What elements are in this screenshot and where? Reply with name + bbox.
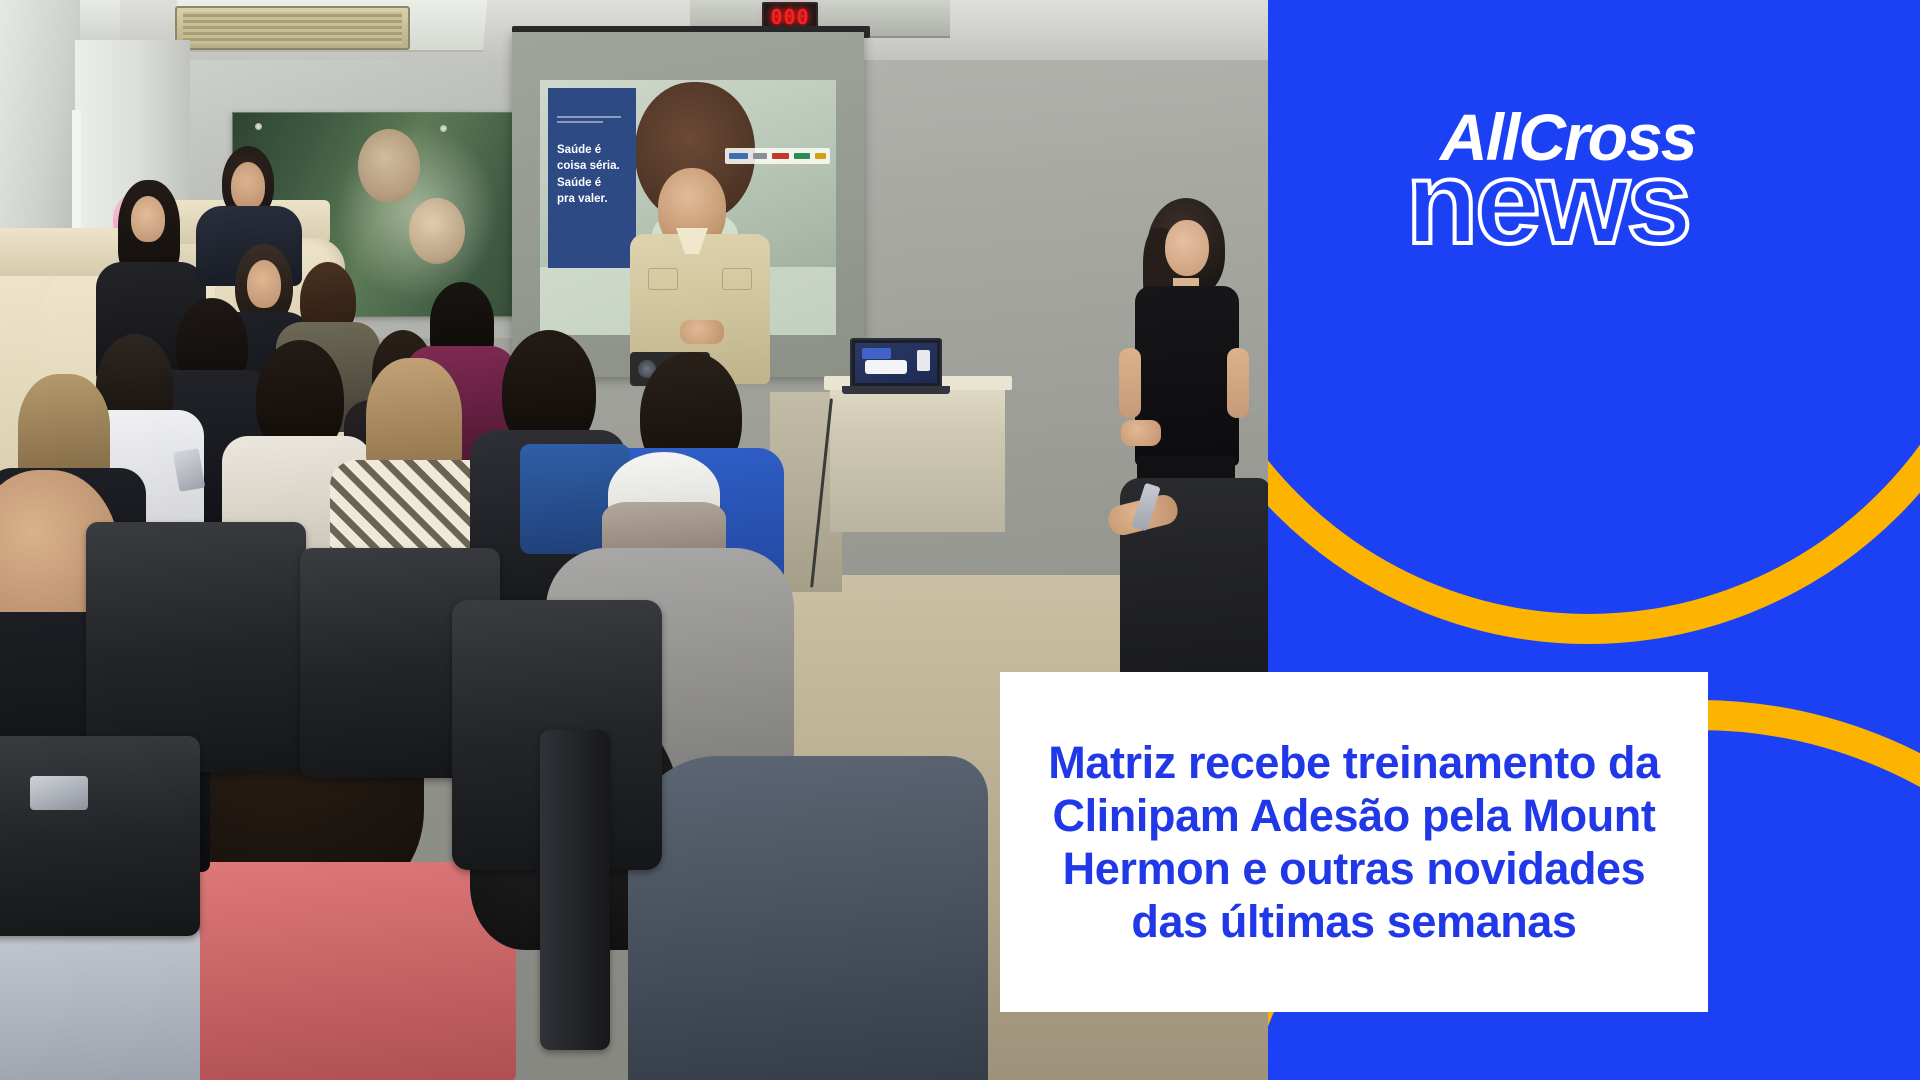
headline-card: Matriz recebe treinamento da Clinipam Ad… xyxy=(1000,672,1708,1012)
host-hands xyxy=(1121,420,1161,446)
laptop xyxy=(850,338,942,388)
page-title: Matriz recebe treinamento da Clinipam Ad… xyxy=(1048,736,1659,948)
av-table xyxy=(830,382,1005,532)
slide-text: Saúde é coisa séria. Saúde é pra valer. xyxy=(557,142,620,207)
news-card: 000 Fazer você sorrir. Está no nosso DNA… xyxy=(0,0,1920,1080)
allcross-news-logo[interactable]: AllCross news xyxy=(1406,108,1836,252)
attendee-body xyxy=(628,756,988,1080)
host-arm-left xyxy=(1119,348,1141,418)
slide-text-panel: Saúde é coisa séria. Saúde é pra valer. xyxy=(548,88,636,268)
tablet-icon xyxy=(30,776,88,810)
laptop-screen-panel xyxy=(862,348,892,359)
air-conditioner-icon xyxy=(175,6,410,50)
chair-leg xyxy=(540,730,610,1050)
speaker-pocket-left xyxy=(648,268,678,290)
attendee-face xyxy=(131,196,165,242)
slide-subtext-lines xyxy=(557,116,621,126)
laptop-screen-card xyxy=(865,360,908,374)
speaker-pocket-right xyxy=(722,268,752,290)
headline-line-4: das últimas semanas xyxy=(1048,895,1659,948)
speaker-hands xyxy=(680,320,724,344)
host-arm-right xyxy=(1227,348,1249,418)
speaker-person xyxy=(630,168,770,383)
slide-line-4: pra valer. xyxy=(557,191,620,207)
chair xyxy=(0,736,200,936)
slide-sponsor-logos xyxy=(725,148,830,164)
decorative-arc-top xyxy=(1268,0,1920,644)
laptop-screen-sidebar xyxy=(917,350,930,371)
headline-line-2: Clinipam Adesão pela Mount xyxy=(1048,789,1659,842)
logo-news: news xyxy=(1406,155,1836,252)
host-face xyxy=(1165,220,1209,276)
laptop-screen xyxy=(855,343,937,383)
headline-line-1: Matriz recebe treinamento da xyxy=(1048,736,1659,789)
headline-line-3: Hermon e outras novidades xyxy=(1048,842,1659,895)
attendee-face xyxy=(247,260,281,308)
slide-line-3: Saúde é xyxy=(557,175,620,191)
slide-line-2: coisa séria. xyxy=(557,158,620,174)
laptop-base xyxy=(842,386,950,394)
slide-line-1: Saúde é xyxy=(557,142,620,158)
wall-light xyxy=(0,0,80,250)
chair xyxy=(86,522,306,772)
attendee-face xyxy=(231,162,265,210)
